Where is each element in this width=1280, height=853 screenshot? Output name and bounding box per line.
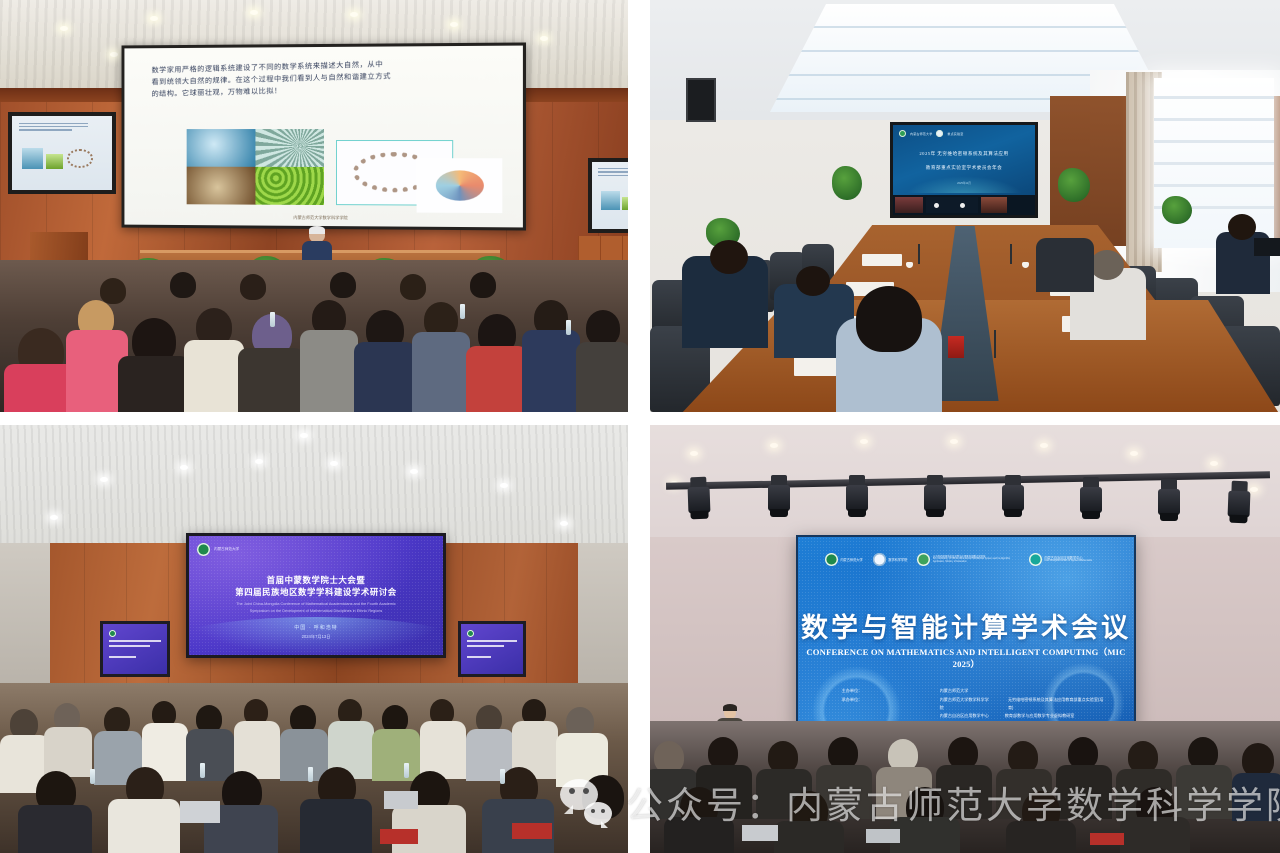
attendee-head [796, 266, 830, 296]
stage-light [1080, 477, 1102, 523]
logo-math-school: 数学科学学院 [873, 553, 908, 566]
organizer-value-1: 内蒙古师范大学数学科学学院 [940, 696, 992, 713]
table-name-card [948, 336, 964, 358]
videographer-head [1228, 214, 1256, 240]
main-led-screen: 内蒙古师范大学 首届中蒙数学院士大会暨 第四届民族地区数学学科建设学术研讨会 T… [186, 533, 446, 658]
potted-plant [832, 166, 862, 200]
organizer-label: 承办单位： [842, 696, 924, 713]
photo-bottom-left: 内蒙古师范大学 首届中蒙数学院士大会暨 第四届民族地区数学学科建设学术研讨会 T… [0, 425, 628, 853]
right-side-screen [458, 621, 526, 677]
main-projection-screen: 数学家用严格的逻辑系统建设了不同的数学系统来描述大自然，从中 看到统领大自然的规… [122, 42, 526, 230]
attendee-head [710, 240, 748, 274]
screen-logo-block: 内蒙古师范大学 [197, 543, 239, 556]
screen-title: 数学与智能计算学术会议 [798, 606, 1134, 645]
screen-logo-row: 内蒙古师范大学 数学科学学院 无穷维哈密顿系统及其算法应用教育部重点实验室 Ke… [825, 553, 1107, 566]
photo-top-left: 数学家用严格的逻辑系统建设了不同的数学系统来描述大自然，从中 看到统领大自然的规… [0, 0, 628, 412]
slide-footer: 内蒙古师范大学数学科学学院 [124, 213, 522, 222]
laptop [866, 829, 900, 843]
seated-speaker [300, 228, 334, 264]
host-label: 主办单位： [842, 687, 924, 695]
stage-light [1002, 475, 1024, 521]
stage-light [768, 475, 790, 521]
slide-nature-images [186, 129, 324, 204]
logo-applied-math-center: 内蒙古自治区应用数学中心 Inner Mongolia Center for A… [1029, 553, 1092, 566]
spiral-shell-image [255, 129, 324, 167]
slide-text: 数学家用严格的逻辑系统建设了不同的数学系统来描述大自然，从中 看到统领大自然的规… [152, 55, 507, 100]
university-seal-icon [825, 553, 838, 566]
stage-light [1158, 479, 1180, 525]
university-seal-icon [197, 543, 210, 556]
organizer-value-3: 内蒙古自治区应用数学中心 [940, 712, 989, 720]
logo-university: 内蒙古师范大学 [825, 553, 863, 566]
lab-seal-icon [936, 130, 943, 137]
organizer-value-2: 无穷维哈密顿系统及其算法应用教育部重点实验室(培育) [1008, 696, 1107, 713]
ammonite-fossil-image [186, 167, 255, 205]
screen-subtitle: CONFERENCE ON MATHEMATICS AND INTELLIGEN… [805, 646, 1128, 670]
audience [650, 721, 1280, 853]
screen-organizers: 主办单位： 内蒙古师范大学 承办单位： 内蒙古师范大学数学科学学院 无穷维哈密顿… [842, 687, 1107, 721]
stage-light [846, 475, 868, 521]
audience [0, 260, 628, 412]
romanesco-broccoli-image [255, 167, 324, 205]
photo-top-right: 内蒙古师范大学 重点实验室 2025年 无穷维哈密顿系统及其算法应用 教育部重点… [650, 0, 1280, 412]
potted-plant [1162, 196, 1192, 224]
left-side-screen [100, 621, 170, 677]
stage-light [1227, 481, 1251, 528]
video-camera [1254, 238, 1280, 256]
laptop [180, 801, 220, 823]
organizer-value-4: 教育部数学与应用数学专业虚拟教研室 [1005, 712, 1075, 720]
colored-spiral-diagram [417, 158, 503, 213]
screen-title-line-2: 第四届民族地区数学学科建设学术研讨会 [189, 586, 443, 598]
logo-key-lab: 无穷维哈密顿系统及其算法应用教育部重点实验室 Key Laboratory of… [917, 553, 1019, 566]
left-side-monitor [8, 112, 116, 194]
photo-collage: 数学家用严格的逻辑系统建设了不同的数学系统来描述大自然，从中 看到统领大自然的规… [0, 0, 1280, 853]
stage-light [924, 475, 946, 521]
attendee-head [856, 286, 922, 352]
host-value: 内蒙古师范大学 [940, 687, 969, 695]
laptop [384, 791, 418, 809]
wall-mounted-display [686, 78, 716, 122]
math-school-seal-icon [873, 553, 886, 566]
screen-logos: 内蒙古师范大学 重点实验室 [899, 130, 963, 137]
photo-bottom-right: 内蒙古师范大学 数学科学学院 无穷维哈密顿系统及其算法应用教育部重点实验室 Ke… [650, 425, 1280, 853]
seated-attendee [1036, 238, 1094, 292]
right-side-monitor [588, 158, 628, 233]
name-card [380, 829, 418, 844]
name-card [1090, 833, 1124, 845]
stage-light [687, 477, 711, 524]
attendee-head [1090, 250, 1124, 280]
laptop [742, 825, 778, 841]
key-lab-seal-icon [917, 553, 930, 566]
potted-plant [1058, 168, 1090, 202]
screen-english-title: The Joint China-Mongolia Conference of M… [204, 601, 428, 614]
screen-title-line-1: 首届中蒙数学院士大会暨 [189, 574, 443, 586]
university-name: 内蒙古师范大学 [214, 547, 239, 552]
nautilus-shell-blue-image [186, 129, 255, 166]
screen-line-1: 2025年 无穷维哈密顿系统及其算法应用 [893, 151, 1035, 157]
applied-math-center-icon [1029, 553, 1042, 566]
audience [0, 683, 628, 853]
name-card [512, 823, 552, 839]
university-seal-icon [899, 130, 906, 137]
